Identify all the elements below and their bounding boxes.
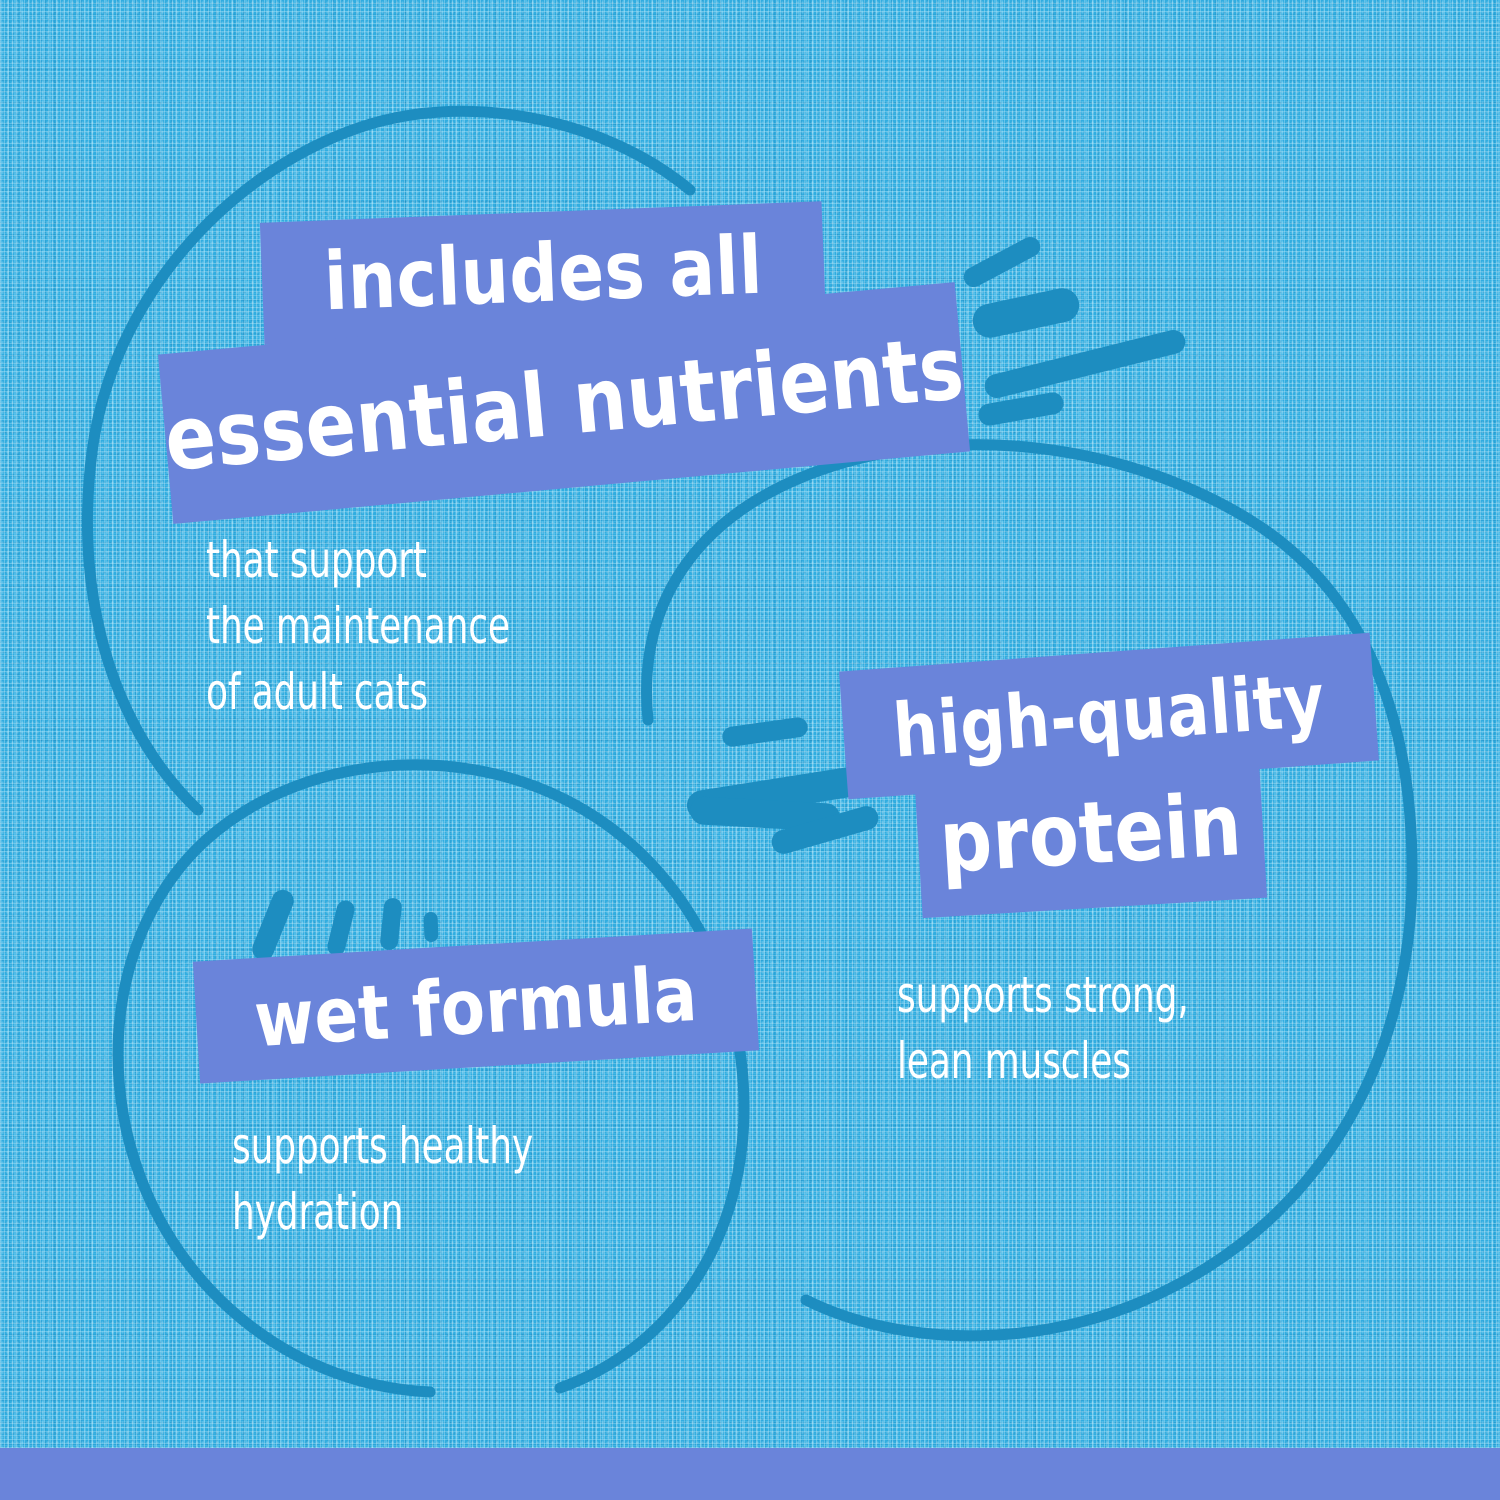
- benefit-body-essential-nutrients: that support the maintenance of adult ca…: [206, 527, 510, 725]
- badge-high-quality-label: high-quality: [890, 657, 1327, 774]
- benefits-panel: includes all essential nutrients high-qu…: [0, 0, 1500, 1500]
- benefit-body-wet-formula: supports healthy hydration: [232, 1113, 533, 1245]
- benefit-body-high-quality-protein: supports strong, lean muscles: [897, 962, 1189, 1094]
- badge-wet-formula-label: wet formula: [252, 948, 700, 1063]
- bottom-accent-bar: [0, 1448, 1500, 1500]
- badge-protein-label: protein: [937, 775, 1244, 893]
- badge-protein: protein: [914, 750, 1267, 918]
